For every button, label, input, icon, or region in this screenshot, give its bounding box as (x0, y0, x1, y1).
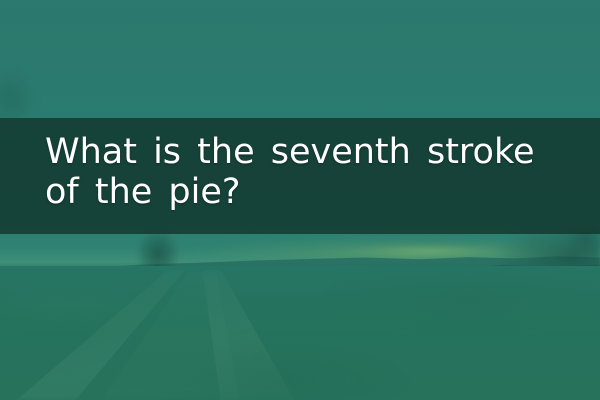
caption-banner: What is the seventh stroke of the pie? (0, 118, 600, 234)
screenshot-canvas: What is the seventh stroke of the pie? (0, 0, 600, 400)
question-text: What is the seventh stroke of the pie? (0, 118, 600, 212)
